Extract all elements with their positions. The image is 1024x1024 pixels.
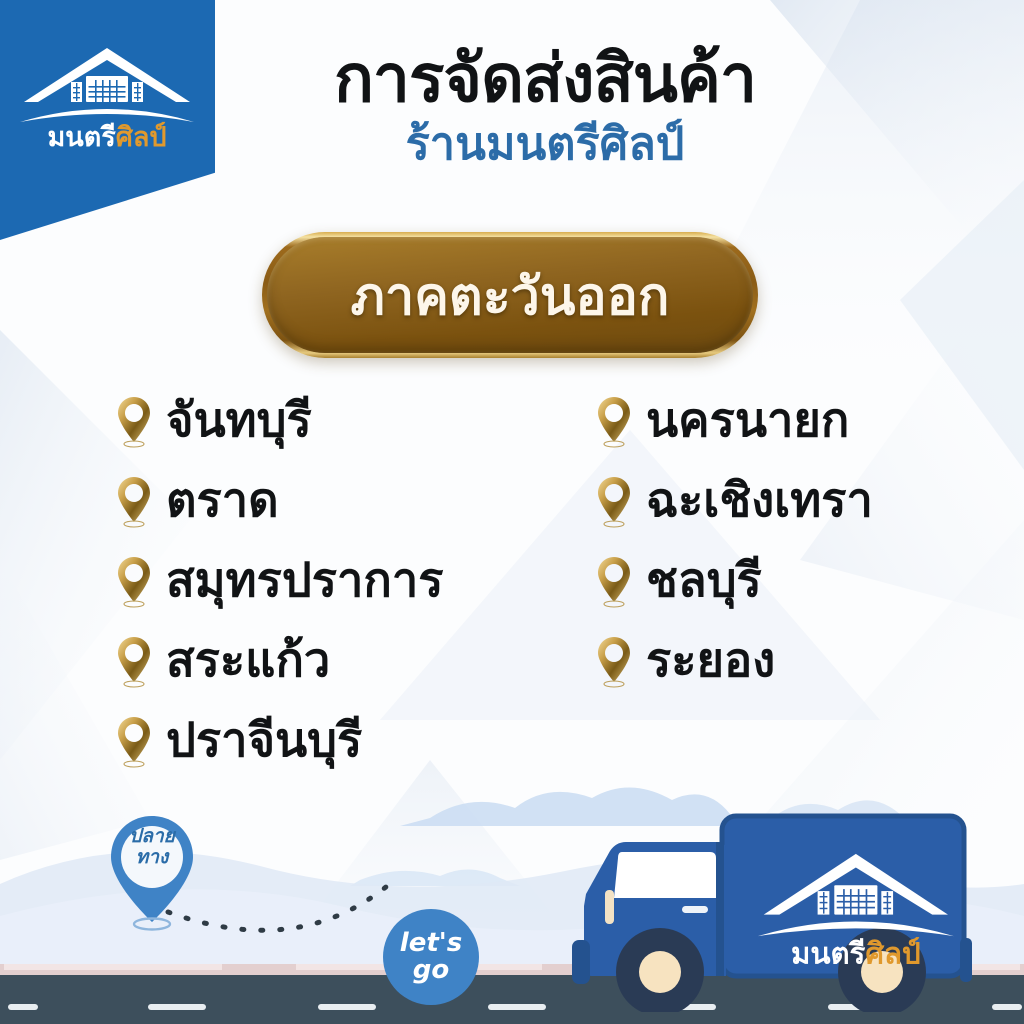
list-item[interactable]: สระแก้ว [116, 622, 443, 702]
svg-text:มนตรีศิลป์: มนตรีศิลป์ [791, 937, 921, 971]
map-pin-icon [596, 474, 632, 530]
region-badge-label: ภาคตะวันออก [351, 254, 670, 337]
truck-logo-name-gold: ศิลป์ [865, 937, 920, 971]
province-name: สระแก้ว [166, 637, 330, 684]
logo-name-gold: ศิลป์ [116, 121, 167, 150]
province-name: นครนายก [646, 397, 849, 444]
province-column-right: นครนายก ฉะเชิงเทรา ชลบุรี [596, 382, 873, 702]
header: การจัดส่งสินค้า ร้านมนตรีศิลป์ [215, 42, 875, 170]
logo-name-white: มนตรี [47, 122, 116, 150]
destination-pin[interactable]: ปลาย ทาง [104, 812, 200, 936]
lets-go-line-2: go [413, 957, 449, 984]
province-name: สมุทรปราการ [166, 557, 443, 604]
destination-pin-icon [104, 812, 200, 936]
truck-logo-name-white: มนตรี [791, 937, 866, 971]
map-pin-icon [116, 394, 152, 450]
map-pin-icon [116, 554, 152, 610]
list-item[interactable]: ปราจีนบุรี [116, 702, 443, 782]
map-pin-icon [116, 714, 152, 770]
lets-go-line-1: let's [400, 930, 462, 957]
province-name: ชลบุรี [646, 557, 762, 604]
map-pin-icon [596, 554, 632, 610]
province-list-area: จันทบุรี ตราด สมุทรปราการ [0, 382, 1024, 782]
map-pin-icon [116, 474, 152, 530]
map-pin-icon [116, 634, 152, 690]
map-pin-icon [596, 394, 632, 450]
delivery-truck: มนตรีศิลป์ [556, 794, 1008, 1012]
list-item[interactable]: ตราด [116, 462, 443, 542]
province-name: ตราด [166, 477, 279, 524]
page-title: การจัดส่งสินค้า [215, 42, 875, 116]
list-item[interactable]: ชลบุรี [596, 542, 873, 622]
lets-go-badge[interactable]: let's go [383, 909, 479, 1005]
list-item[interactable]: สมุทรปราการ [116, 542, 443, 622]
brand-logo: มนตรีศิลป์ [14, 40, 200, 150]
list-item[interactable]: นครนายก [596, 382, 873, 462]
list-item[interactable]: ฉะเชิงเทรา [596, 462, 873, 542]
province-name: ปราจีนบุรี [166, 717, 362, 764]
province-name: ระยอง [646, 637, 775, 684]
svg-text:มนตรีศิลป์: มนตรีศิลป์ [47, 121, 166, 150]
region-badge: ภาคตะวันออก [262, 232, 758, 358]
list-item[interactable]: จันทบุรี [116, 382, 443, 462]
province-name: จันทบุรี [166, 397, 312, 444]
delivery-infographic-poster: มนตรีศิลป์ การจัดส่งสินค้า ร้านมนตรีศิลป… [0, 0, 1024, 1024]
province-column-left: จันทบุรี ตราด สมุทรปราการ [116, 382, 443, 782]
province-name: ฉะเชิงเทรา [646, 477, 873, 524]
page-subtitle: ร้านมนตรีศิลป์ [215, 118, 875, 170]
list-item[interactable]: ระยอง [596, 622, 873, 702]
map-pin-icon [596, 634, 632, 690]
